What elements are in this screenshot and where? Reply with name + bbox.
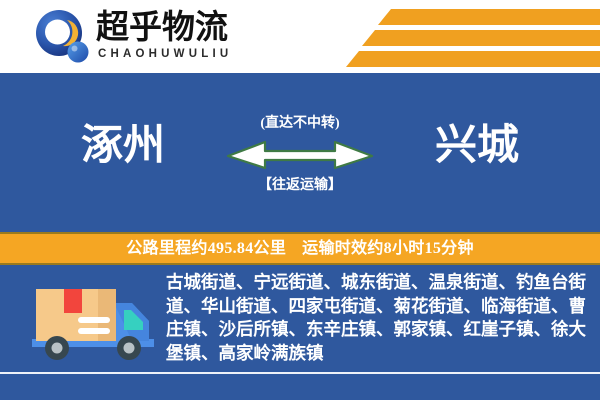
stripe-1	[378, 9, 600, 25]
double-headed-arrow-icon	[225, 137, 375, 171]
band-text-row: 公路里程约495.84公里运输时效约8小时15分钟	[0, 234, 600, 263]
footer-area	[0, 374, 600, 400]
circle-q-logo-icon	[33, 8, 91, 66]
orange-speed-stripes-icon	[300, 6, 600, 68]
coverage-areas-text: 古城街道、宁远街道、城东街道、温泉街道、钓鱼台街道、华山街道、四家屯街道、菊花街…	[166, 271, 586, 365]
duration-text: 运输时效约8小时15分钟	[302, 240, 474, 257]
route-note-bottom: 【往返运输】	[225, 177, 375, 195]
coverage-section: 古城街道、宁远街道、城东街道、温泉街道、钓鱼台街道、华山街道、四家屯街道、菊花街…	[0, 265, 600, 372]
route-section: 涿州 (直达不中转) 【往返运输】 兴城	[0, 73, 600, 232]
poster-body: 涿州 (直达不中转) 【往返运输】 兴城 公路里程约495.84公里运输时效约8…	[0, 73, 600, 400]
header-bar: 超乎物流 CHAOHUWULIU	[0, 0, 600, 73]
logistics-route-poster: 超乎物流 CHAOHUWULIU 涿州 (直达不中转) 【往返运输】 兴城	[0, 0, 600, 400]
brand-name-cn: 超乎物流	[96, 8, 266, 46]
distance-duration-band: 公路里程约495.84公里运输时效约8小时15分钟	[0, 232, 600, 265]
stripe-3	[346, 51, 600, 67]
brand-name-en: CHAOHUWULIU	[96, 47, 266, 61]
origin-city: 涿州	[28, 121, 218, 171]
stripe-2	[362, 30, 600, 46]
distance-text: 公路里程约495.84公里	[126, 240, 286, 257]
brand-block: 超乎物流 CHAOHUWULIU	[96, 8, 266, 68]
route-note-top: (直达不中转)	[225, 115, 375, 133]
route-arrow-group: (直达不中转) 【往返运输】	[225, 113, 375, 213]
delivery-truck-icon	[28, 277, 158, 367]
destination-city: 兴城	[382, 121, 572, 171]
